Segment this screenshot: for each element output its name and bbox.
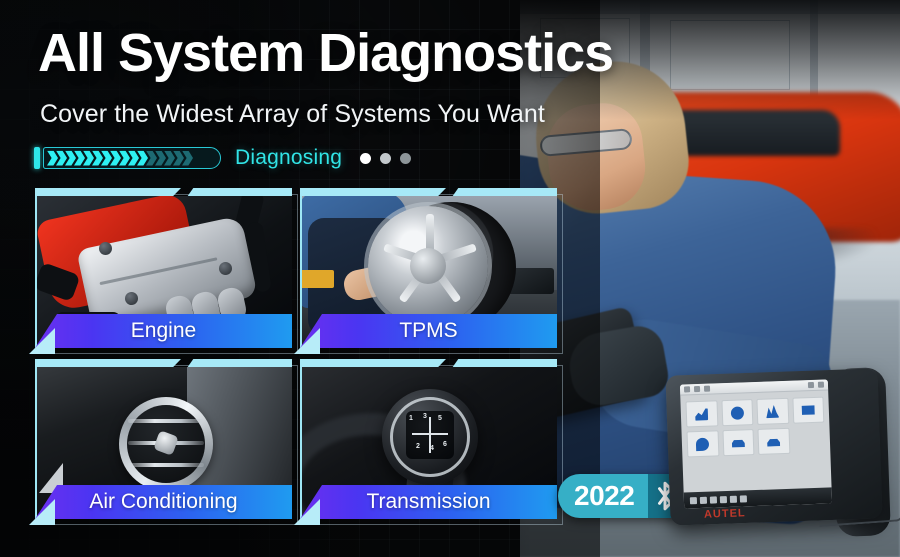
tablet-app-tile[interactable]: [757, 428, 789, 455]
tablet-app-tile[interactable]: [722, 429, 754, 456]
card-label-text: Air Conditioning: [89, 490, 237, 514]
tablet-status-icon: [808, 382, 814, 388]
tablet-nav-icon[interactable]: [730, 495, 737, 502]
status-label: Diagnosing: [235, 146, 342, 170]
system-card-tpms[interactable]: TPMS: [300, 188, 557, 348]
tablet-nav-icon[interactable]: [720, 496, 727, 503]
progress-start-cap: [34, 147, 40, 169]
diagnosing-status-row: Diagnosing: [34, 146, 411, 170]
tablet-brand-logo: AUTEL: [704, 507, 746, 520]
card-label-text: Engine: [131, 319, 196, 343]
badge-year: 2022: [558, 474, 648, 518]
tablet-nav-icon[interactable]: [700, 496, 707, 503]
tablet-status-icon: [684, 386, 690, 392]
tablet-status-icon: [704, 386, 710, 392]
card-label-bar: Engine: [35, 314, 292, 348]
tablet-stand: [817, 481, 900, 527]
autel-diagnostic-tablet: AUTEL: [668, 372, 900, 557]
promo-banner: All System Diagnostics Cover the Widest …: [0, 0, 900, 557]
tablet-nav-icon[interactable]: [690, 497, 697, 504]
tablet-status-icon: [694, 386, 700, 392]
card-corner-accent: [29, 499, 55, 525]
tablet-nav-icon[interactable]: [740, 495, 747, 502]
tablet-status-icon: [818, 382, 824, 388]
tablet-app-tile[interactable]: [756, 398, 788, 425]
status-dot-3: [400, 153, 411, 164]
tablet-app-tile[interactable]: [685, 400, 717, 427]
status-dot-2: [380, 153, 391, 164]
card-label-text: Transmission: [366, 490, 490, 514]
system-card-air-conditioning[interactable]: Air Conditioning: [35, 359, 292, 519]
card-label-text: TPMS: [399, 319, 457, 343]
progress-track: [43, 147, 221, 169]
tablet-app-tile[interactable]: [721, 399, 753, 426]
card-label-bar: Air Conditioning: [35, 485, 292, 519]
page-title: All System Diagnostics: [38, 26, 613, 80]
page-subtitle: Cover the Widest Array of Systems You Wa…: [40, 100, 545, 129]
status-dot-1: [360, 153, 371, 164]
status-dots: [360, 153, 411, 164]
system-card-grid: Engine: [35, 188, 557, 519]
badge-year-text: 2022: [574, 480, 634, 512]
tablet-app-grid: [680, 390, 830, 463]
card-corner-accent: [294, 328, 320, 354]
card-corner-accent: [29, 328, 55, 354]
tablet-app-tile[interactable]: [792, 397, 824, 424]
tablet-screen[interactable]: [680, 379, 832, 508]
card-label-bar: TPMS: [300, 314, 557, 348]
card-corner-accent: [294, 499, 320, 525]
system-card-transmission[interactable]: 1 3 5 2 4 6 Transmission: [300, 359, 557, 519]
card-label-bar: Transmission: [300, 485, 557, 519]
progress-bar: [34, 147, 221, 169]
tablet-app-tile[interactable]: [687, 430, 719, 457]
system-card-engine[interactable]: Engine: [35, 188, 292, 348]
tablet-nav-icon[interactable]: [710, 496, 717, 503]
